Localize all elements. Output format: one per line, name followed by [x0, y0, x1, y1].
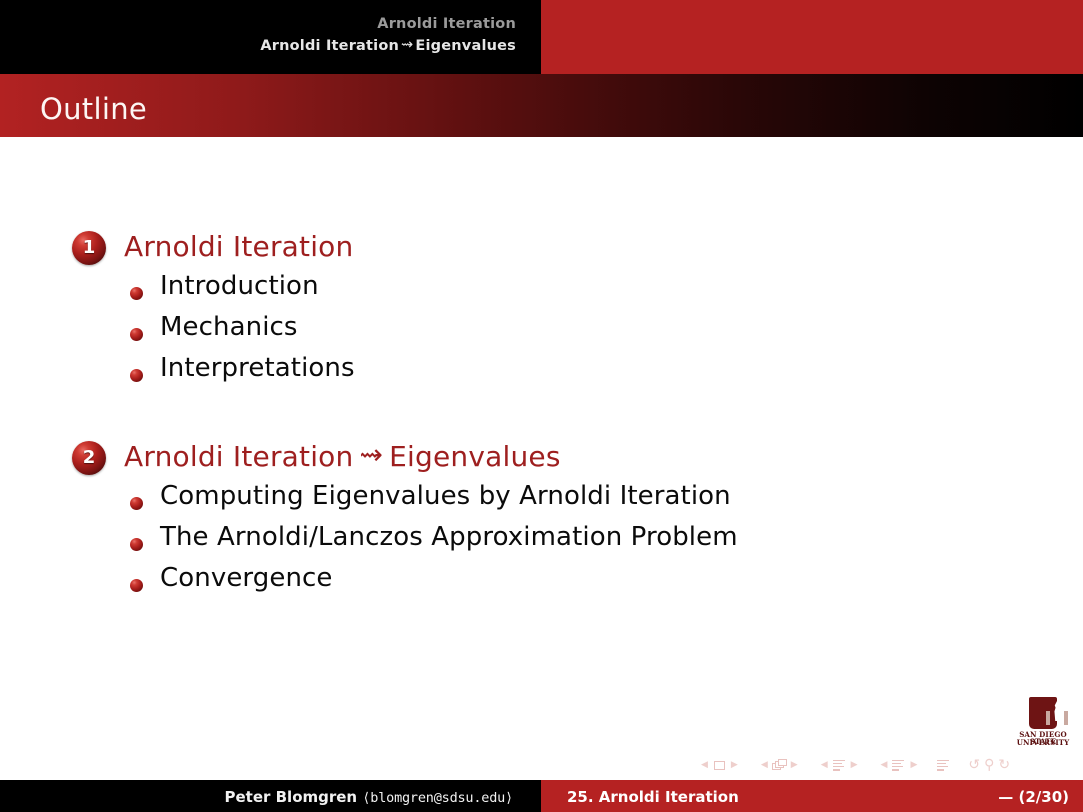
- nav-prev-section-icon[interactable]: ◀: [881, 761, 888, 770]
- outline-subsection-label: Mechanics: [160, 312, 298, 342]
- sdsu-logo: SAN DIEGO STATE UNIVERSITY: [1015, 697, 1071, 753]
- sdsu-logo-line-2: UNIVERSITY: [1015, 739, 1071, 746]
- bullet-sphere-icon: [130, 538, 143, 551]
- headline-black-panel: [0, 0, 541, 74]
- sdsu-pillar-left-icon: [1046, 711, 1050, 725]
- section-number-1-label: 1: [72, 231, 106, 265]
- outline-section-2-title-text-after: Eigenvalues: [389, 440, 561, 473]
- beamer-navigation-symbols: ◀ ▶ ◀ ▶ ◀ ▶ ◀ ▶ ↺ ⚲ ↻: [697, 757, 1027, 773]
- nav-next-slide-icon[interactable]: ▶: [731, 761, 738, 770]
- sdsu-shield-icon: [1029, 697, 1057, 729]
- footline-bar: Peter Blomgren ⟨blomgren@sdsu.edu⟩ 25. A…: [0, 780, 1083, 812]
- nav-section-icon[interactable]: [891, 759, 906, 772]
- outline-subsection-label: Computing Eigenvalues by Arnoldi Iterati…: [160, 481, 731, 511]
- nav-slide-icon[interactable]: [712, 759, 727, 772]
- headline-navigation-bar: Arnoldi Iteration Arnoldi Iteration⇝Eige…: [0, 0, 1083, 74]
- squiggly-arrow-icon: ⇝: [401, 37, 413, 53]
- bullet-sphere-icon: [130, 287, 143, 300]
- headline-section-1-label: Arnoldi Iteration: [377, 16, 516, 32]
- bullet-sphere-icon: [130, 579, 143, 592]
- section-number-2-label: 2: [72, 441, 106, 475]
- nav-forward-icon[interactable]: ↻: [998, 758, 1010, 772]
- headline-section-arnoldi-iteration[interactable]: Arnoldi Iteration: [377, 16, 516, 32]
- outline-section-2-title: Arnoldi Iteration⇝Eigenvalues: [124, 440, 561, 473]
- outline-section-1-title: Arnoldi Iteration: [124, 230, 353, 263]
- section-number-ball-icon: 1: [72, 231, 106, 265]
- nav-group-tools: ↺ ⚲ ↻: [966, 758, 1012, 772]
- nav-group-subsection: ◀ ▶: [817, 759, 862, 772]
- nav-group-doc: [936, 759, 951, 772]
- nav-back-icon[interactable]: ↺: [968, 758, 980, 772]
- nav-group-section: ◀ ▶: [877, 759, 922, 772]
- bullet-sphere-icon: [130, 328, 143, 341]
- page-title: Outline: [40, 92, 147, 126]
- bullet-sphere-icon: [130, 497, 143, 510]
- outline-subsection-label: Convergence: [160, 563, 333, 593]
- footer-author: Peter Blomgren ⟨blomgren@sdsu.edu⟩: [224, 788, 513, 806]
- nav-search-icon[interactable]: ⚲: [984, 758, 994, 772]
- footer-page-number: — (2/30): [998, 788, 1069, 806]
- outline-subsection-label: Interpretations: [160, 353, 355, 383]
- footer-short-title: 25. Arnoldi Iteration: [567, 788, 739, 806]
- outline-subsection-label: The Arnoldi/Lanczos Approximation Proble…: [160, 522, 738, 552]
- headline-section-arnoldi-to-eigenvalues[interactable]: Arnoldi Iteration⇝Eigenvalues: [260, 38, 516, 54]
- nav-group-frame: ◀ ▶: [757, 759, 802, 772]
- outline-subsection-label: Introduction: [160, 271, 319, 301]
- footer-author-name: Peter Blomgren: [224, 788, 357, 806]
- nav-subsection-icon[interactable]: [832, 759, 847, 772]
- nav-document-icon[interactable]: [936, 759, 951, 772]
- nav-group-slide: ◀ ▶: [697, 759, 742, 772]
- slide-content-area: 1 Arnoldi Iteration Introduction Mechani…: [0, 137, 1083, 775]
- section-number-ball-icon: 2: [72, 441, 106, 475]
- headline-section-2-label-after: Eigenvalues: [415, 38, 516, 54]
- footer-author-email[interactable]: ⟨blomgren@sdsu.edu⟩: [362, 790, 513, 806]
- squiggly-arrow-icon: ⇝: [359, 438, 383, 471]
- outline-section-1-title-text: Arnoldi Iteration: [124, 230, 353, 263]
- nav-prev-frame-icon[interactable]: ◀: [761, 761, 768, 770]
- bullet-sphere-icon: [130, 369, 143, 382]
- sdsu-pillar-right-icon: [1064, 711, 1068, 725]
- nav-next-subsection-icon[interactable]: ▶: [851, 761, 858, 770]
- nav-prev-slide-icon[interactable]: ◀: [701, 761, 708, 770]
- nav-prev-subsection-icon[interactable]: ◀: [821, 761, 828, 770]
- sdsu-flame-icon: [1053, 701, 1061, 721]
- nav-next-frame-icon[interactable]: ▶: [791, 761, 798, 770]
- outline-section-2-title-text: Arnoldi Iteration: [124, 440, 353, 473]
- headline-section-2-label-before: Arnoldi Iteration: [260, 38, 399, 54]
- nav-frame-icon[interactable]: [772, 759, 787, 772]
- nav-next-section-icon[interactable]: ▶: [910, 761, 917, 770]
- frame-title-bar: Outline: [0, 74, 1083, 137]
